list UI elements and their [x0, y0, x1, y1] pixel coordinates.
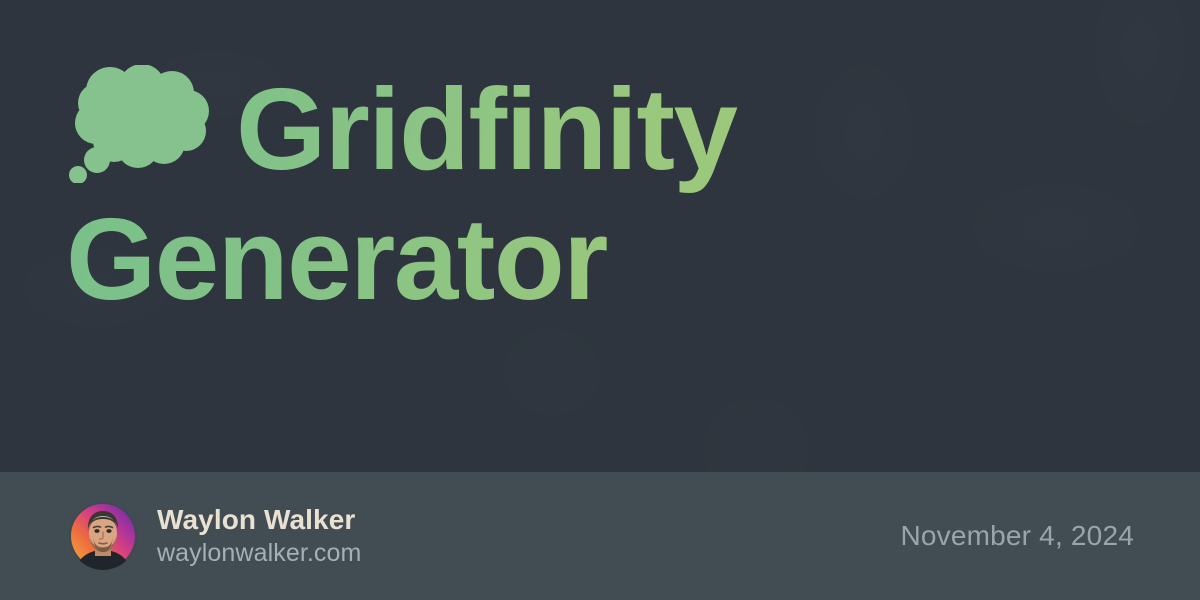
thought-bubble-icon — [66, 65, 216, 183]
publish-date: November 4, 2024 — [900, 520, 1134, 552]
author-site[interactable]: waylonwalker.com — [157, 538, 361, 568]
share-card: Gridfinity Generator — [0, 0, 1200, 600]
page-title: Gridfinity Generator — [66, 65, 826, 325]
author-block[interactable]: Waylon Walker waylonwalker.com — [69, 502, 361, 570]
footer-bar: Waylon Walker waylonwalker.com November … — [0, 472, 1200, 600]
author-text: Waylon Walker waylonwalker.com — [157, 504, 361, 568]
hero-section: Gridfinity Generator — [0, 0, 1200, 472]
author-name: Waylon Walker — [157, 504, 361, 536]
title-wrapper: Gridfinity Generator — [66, 65, 1140, 407]
avatar — [69, 502, 137, 570]
